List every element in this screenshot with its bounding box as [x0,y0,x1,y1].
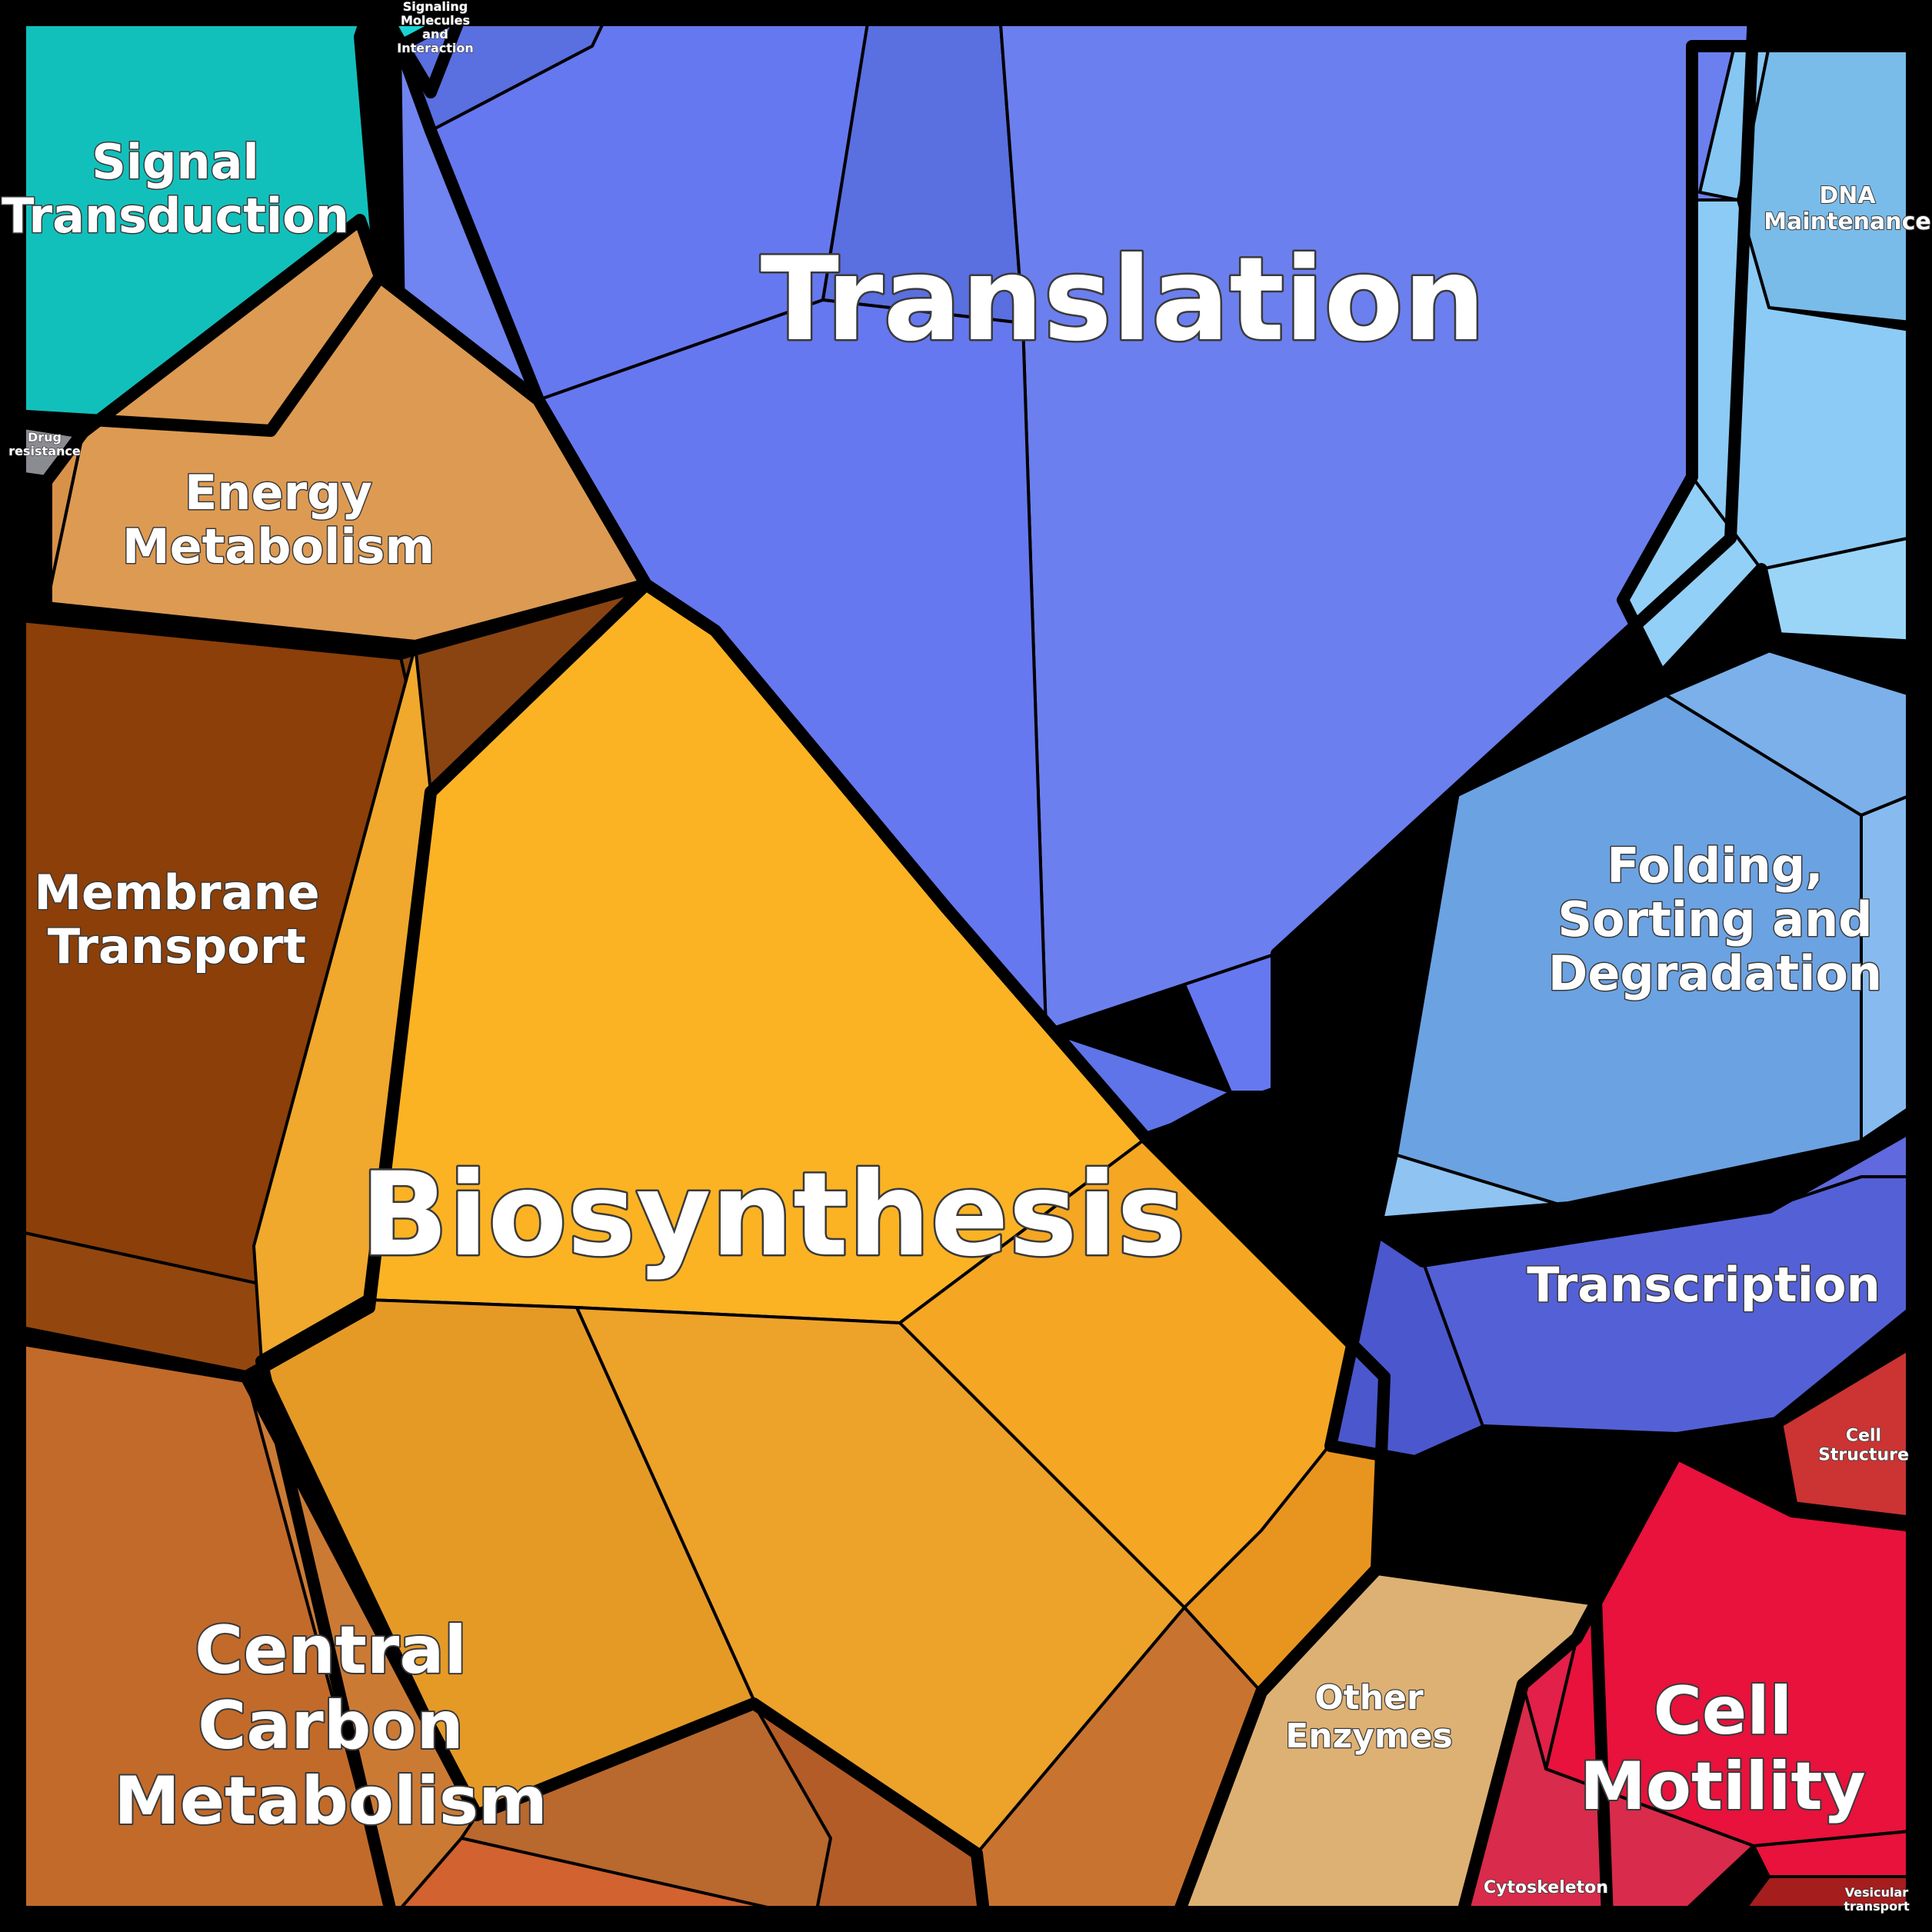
treemap-canvas: TranslationBiosynthesisCentralCarbonMeta… [0,0,1932,1932]
cell-label-line: Signaling [403,0,468,14]
cell-label-line: Transcription [1527,1257,1880,1313]
cell-label-line: Cytoskeleton [1484,1878,1608,1897]
cell-label-line: Central [195,1612,467,1689]
cell-label-line: Motility [1580,1748,1865,1825]
cell-label: Translation [761,233,1486,367]
cell-label-line: Energy [185,465,372,521]
cell-label-line: Metabolism [122,518,435,575]
cell-label-line: Structure [1818,1446,1909,1465]
cell-label-line: Cell [1654,1673,1792,1750]
cell-label-line: Drug [28,430,62,445]
cell-label-line: Signal [92,134,259,190]
cell-label-line: Interaction [397,41,474,55]
cell-label-line: Transport [48,918,306,974]
cell-label-line: Sorting and [1557,891,1872,948]
cell-label-line: Membrane [34,864,319,921]
cell-label: Transcription [1527,1257,1880,1313]
cell-label-line: Enzymes [1285,1717,1453,1756]
cell-label-line: Carbon [198,1687,463,1764]
cell-label: MembraneTransport [34,864,319,974]
cell-label-line: Maintenance [1764,208,1931,235]
cell-label-line: Molecules [401,13,470,28]
cell-label-line: transport [1844,1899,1910,1914]
cell-label-line: Folding, [1607,838,1823,894]
cell-label-line: Transduction [2,188,349,244]
cell-label-line: Metabolism [114,1763,547,1840]
cell-label-line: Degradation [1548,945,1882,1001]
cell-label-line: resistance [8,444,81,458]
cell-label-line: DNA [1819,182,1876,209]
cell-label-line: Other [1314,1678,1424,1717]
cell-label: Biosynthesis [361,1148,1186,1282]
cell-label: Cytoskeleton [1484,1878,1608,1897]
cell-label-line: Translation [761,233,1486,367]
cell-label-line: Biosynthesis [361,1148,1186,1282]
cell-label: Vesiculartransport [1844,1885,1910,1914]
voronoi-treemap-figure: TranslationBiosynthesisCentralCarbonMeta… [0,0,1932,1932]
cell-label-line: Vesicular [1845,1885,1909,1900]
cell-label-line: and [422,27,448,42]
cell-label-line: Cell [1846,1427,1881,1446]
